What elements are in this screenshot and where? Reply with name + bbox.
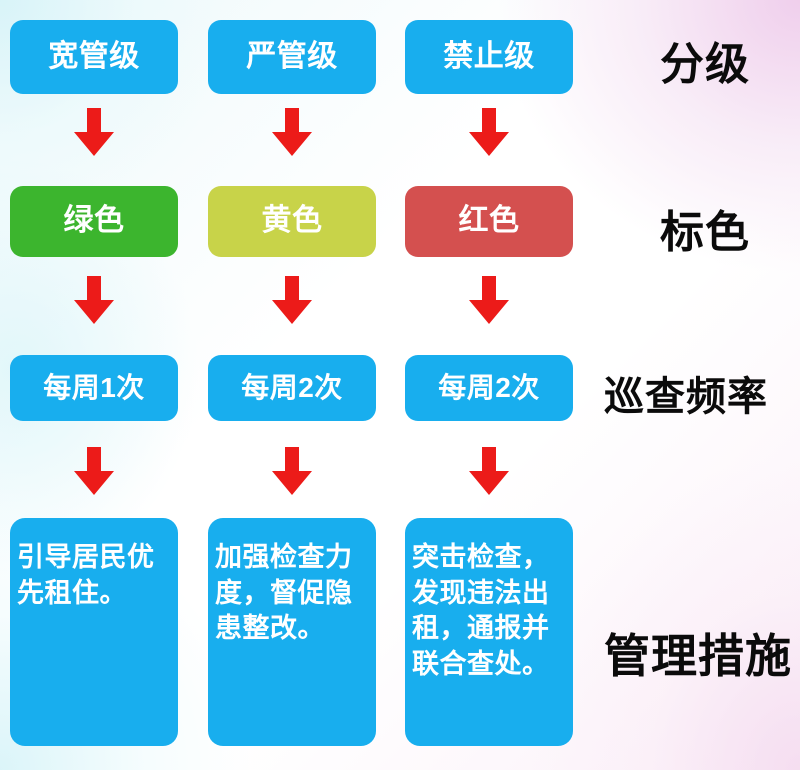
color-node-yellow[interactable]: 黄色 [208, 186, 376, 257]
color-node-red[interactable]: 红色 [405, 186, 573, 257]
arrow-down-icon [272, 108, 312, 156]
arrow-down-icon [272, 447, 312, 495]
frequency-node-strict[interactable]: 每周2次 [208, 355, 376, 421]
row-label-grade: 分级 [660, 28, 750, 92]
row-label-patrol-frequency: 巡查频率 [604, 364, 768, 422]
measure-text-strict: 加强检查力度，督促隐患整改。 [215, 540, 369, 647]
frequency-node-loose[interactable]: 每周1次 [10, 355, 178, 421]
grade-node-forbidden[interactable]: 禁止级 [405, 20, 573, 94]
measure-node-strict[interactable]: 加强检查力度，督促隐患整改。 [208, 518, 376, 746]
arrow-down-icon [272, 276, 312, 324]
frequency-node-forbidden[interactable]: 每周2次 [405, 355, 573, 421]
row-label-management-measures: 管理措施 [604, 620, 792, 686]
measure-text-loose: 引导居民优先租住。 [17, 540, 171, 611]
arrow-down-icon [469, 447, 509, 495]
arrow-down-icon [74, 276, 114, 324]
measure-text-forbidden: 突击检查，发现违法出租，通报并联合查处。 [412, 540, 566, 683]
arrow-down-icon [469, 108, 509, 156]
arrow-down-icon [469, 276, 509, 324]
arrow-down-icon [74, 108, 114, 156]
arrow-down-icon [74, 447, 114, 495]
color-node-green[interactable]: 绿色 [10, 186, 178, 257]
measure-node-loose[interactable]: 引导居民优先租住。 [10, 518, 178, 746]
measure-node-forbidden[interactable]: 突击检查，发现违法出租，通报并联合查处。 [405, 518, 573, 746]
grade-node-loose[interactable]: 宽管级 [10, 20, 178, 94]
infographic-canvas: 宽管级 严管级 禁止级 分级 绿色 黄色 红色 标色 每 [0, 0, 800, 770]
grade-node-strict[interactable]: 严管级 [208, 20, 376, 94]
row-label-color: 标色 [660, 196, 750, 260]
